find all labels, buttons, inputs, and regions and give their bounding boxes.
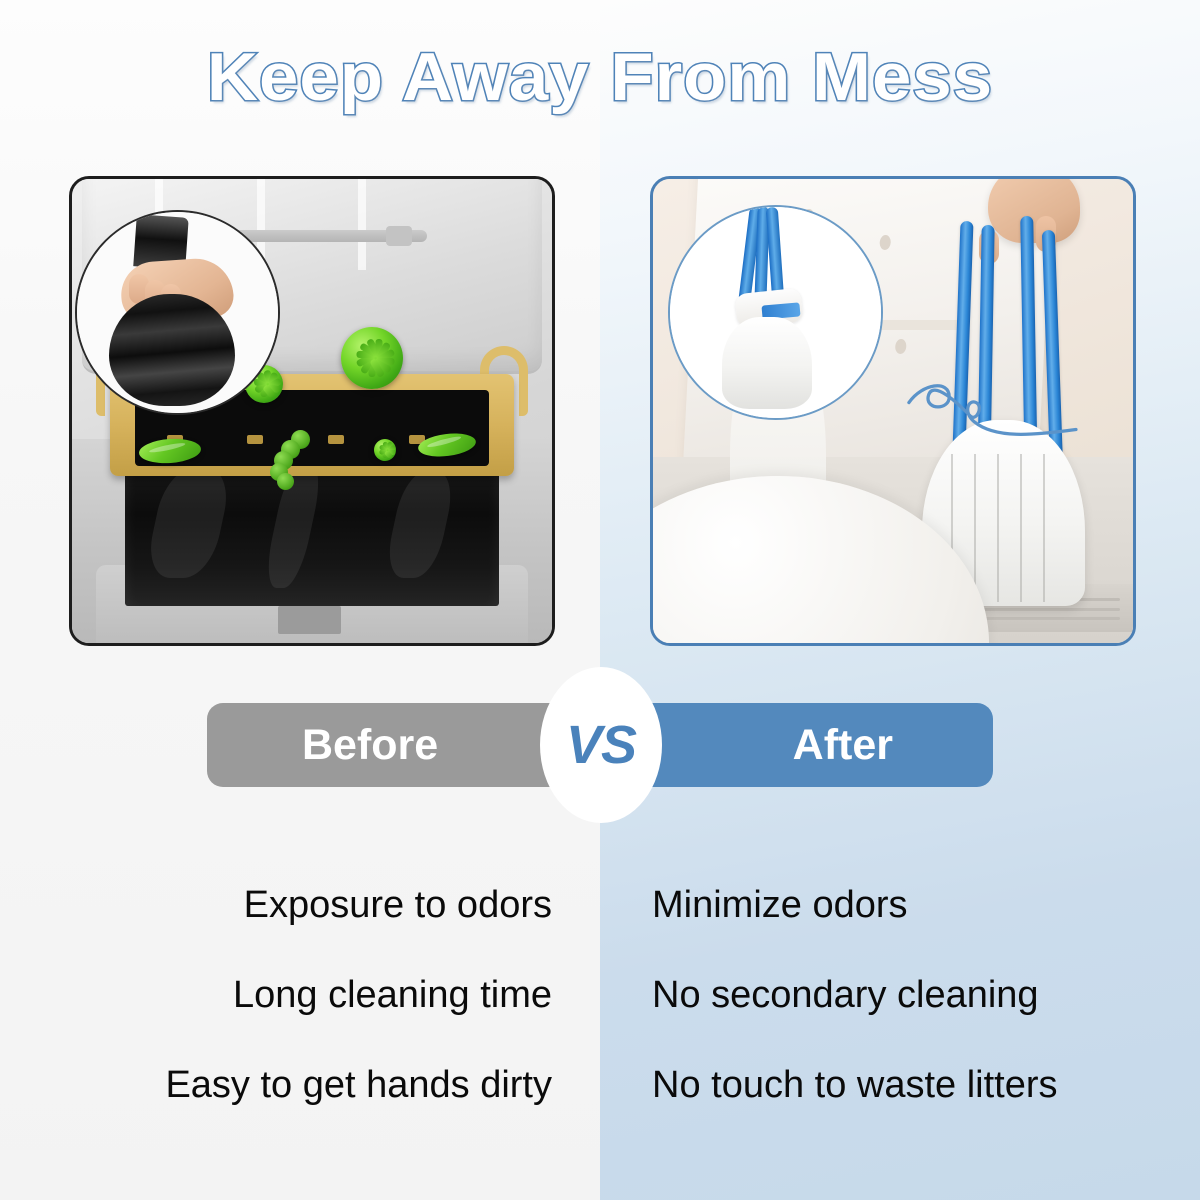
bin-front-plate [278,606,340,634]
frame-notch [328,435,344,444]
vs-badge: VS [540,667,662,823]
germ-streptococcus-chain [269,430,329,486]
page-title-text: Keep Away From Mess [207,38,993,116]
bag-sheen [383,471,458,578]
bag-sheen [143,468,234,578]
before-feature-1: Exposure to odors [0,884,600,927]
lid-vent-hole [895,340,907,355]
comparison-row: Long cleaning time No secondary cleaning [0,950,1200,1040]
before-feature-2: Long cleaning time [0,974,600,1017]
germ-virus-tiny [374,439,396,461]
after-feature-3: No touch to waste litters [600,1064,1200,1107]
frame-notch [247,435,263,444]
before-after-comparison-bar: Before After VS [0,703,1200,787]
comparison-row: Exposure to odors Minimize odors [0,860,1200,950]
germ-virus-large [341,327,403,389]
lid-vent-hole [879,236,891,251]
after-pill-label: After [793,721,893,770]
after-feature-1: Minimize odors [600,884,1200,927]
germ-body [341,327,403,389]
after-inset-photo [668,205,883,420]
germ-body [374,439,396,461]
lid-rib [358,176,366,270]
before-inset-photo [75,210,280,415]
vs-badge-label: VS [566,714,636,776]
white-bag-body [722,317,812,409]
after-feature-2: No secondary cleaning [600,974,1200,1017]
curly-connector-line [907,365,1080,467]
lid-hinge-tab [386,226,412,246]
before-feature-3: Easy to get hands dirty [0,1064,600,1107]
hand [988,176,1080,243]
comparison-row: Easy to get hands dirty No touch to wast… [0,1040,1200,1130]
black-garbage-bag [109,294,235,406]
comparison-text-rows: Exposure to odors Minimize odors Long cl… [0,860,1200,1130]
before-pill-label: Before [302,721,438,770]
page-title: Keep Away From Mess [0,38,1200,116]
